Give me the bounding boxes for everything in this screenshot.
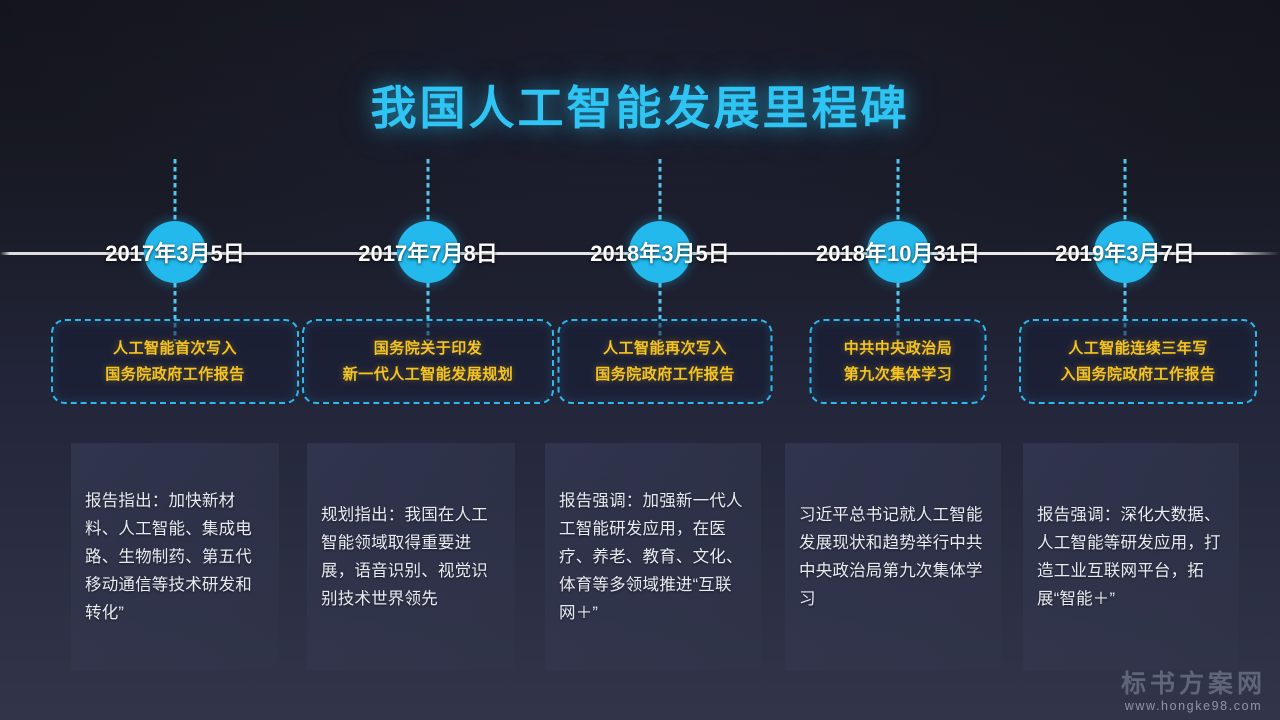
slide-canvas: 我国人工智能发展里程碑 2017年3月5日 人工智能首次写入 国务院政府工作报告…: [0, 0, 1280, 720]
milestone-card-3-line1: 人工智能再次写入: [603, 336, 727, 362]
description-text-3: 报告强调：加强新一代人工智能研发应用，在医疗、养老、教育、文化、体育等多领域推进…: [559, 487, 747, 627]
timeline-date-5: 2019年3月7日: [1055, 236, 1194, 268]
milestone-card-2-line1: 国务院关于印发: [374, 336, 483, 362]
watermark-url: www.hongke98.com: [1121, 698, 1266, 714]
timeline-date-2: 2017年7月8日: [358, 236, 497, 268]
connector-dashed-up-1: [174, 159, 177, 221]
milestone-card-4[interactable]: 中共中央政治局 第九次集体学习: [810, 319, 987, 404]
milestone-card-5-line2: 入国务院政府工作报告: [1060, 362, 1215, 388]
milestone-card-1-line1: 人工智能首次写入: [113, 336, 237, 362]
description-panel-3: 报告强调：加强新一代人工智能研发应用，在医疗、养老、教育、文化、体育等多领域推进…: [545, 443, 761, 670]
description-text-5: 报告强调：深化大数据、人工智能等研发应用，打造工业互联网平台，拓展“智能＋”: [1037, 501, 1225, 613]
page-title-wrap: 我国人工智能发展里程碑: [0, 72, 1280, 138]
watermark-name: 标书方案网: [1121, 670, 1266, 698]
connector-dashed-up-4: [897, 159, 900, 221]
description-panel-4: 习近平总书记就人工智能发展现状和趋势举行中共中央政治局第九次集体学习: [785, 443, 1001, 670]
watermark: 标书方案网 www.hongke98.com: [1121, 670, 1266, 714]
connector-dashed-up-5: [1124, 159, 1127, 221]
milestone-card-4-line2: 第九次集体学习: [844, 362, 953, 388]
milestone-card-1[interactable]: 人工智能首次写入 国务院政府工作报告: [51, 319, 299, 404]
connector-dashed-up-2: [427, 159, 430, 221]
page-title: 我国人工智能发展里程碑: [371, 72, 910, 138]
description-text-2: 规划指出：我国在人工智能领域取得重要进展，语音识别、视觉识别技术世界领先: [321, 501, 501, 613]
timeline-date-1: 2017年3月5日: [105, 236, 244, 268]
description-text-4: 习近平总书记就人工智能发展现状和趋势举行中共中央政治局第九次集体学习: [799, 501, 987, 613]
milestone-card-5-line1: 人工智能连续三年写: [1068, 336, 1208, 362]
description-panel-1: 报告指出：加快新材料、人工智能、集成电路、生物制药、第五代移动通信等技术研发和转…: [71, 443, 279, 670]
milestone-card-1-line2: 国务院政府工作报告: [105, 362, 245, 388]
milestone-card-4-line1: 中共中央政治局: [844, 336, 953, 362]
milestone-card-2[interactable]: 国务院关于印发 新一代人工智能发展规划: [302, 319, 554, 404]
timeline-date-4: 2018年10月31日: [816, 236, 980, 268]
milestone-card-3[interactable]: 人工智能再次写入 国务院政府工作报告: [558, 319, 773, 404]
milestone-card-3-line2: 国务院政府工作报告: [595, 362, 735, 388]
description-text-1: 报告指出：加快新材料、人工智能、集成电路、生物制药、第五代移动通信等技术研发和转…: [85, 487, 265, 627]
milestone-card-2-line2: 新一代人工智能发展规划: [343, 362, 514, 388]
description-panel-2: 规划指出：我国在人工智能领域取得重要进展，语音识别、视觉识别技术世界领先: [307, 443, 515, 670]
connector-dashed-up-3: [659, 159, 662, 221]
timeline-date-3: 2018年3月5日: [590, 236, 729, 268]
milestone-card-5[interactable]: 人工智能连续三年写 入国务院政府工作报告: [1019, 319, 1257, 404]
description-panel-5: 报告强调：深化大数据、人工智能等研发应用，打造工业互联网平台，拓展“智能＋”: [1023, 443, 1239, 670]
